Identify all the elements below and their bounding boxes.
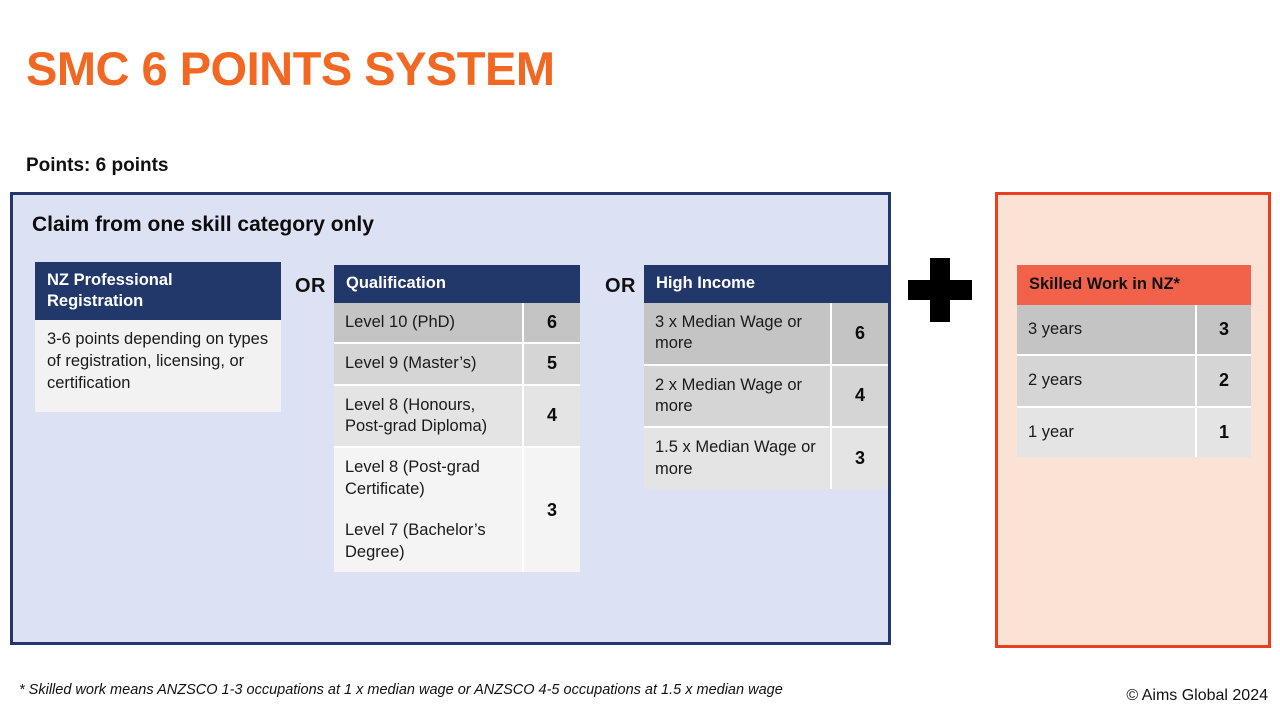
copyright-text: © Aims Global 2024 — [1126, 687, 1268, 705]
table-row: 3 years 3 — [1017, 305, 1251, 356]
points-subtitle: Points: 6 points — [26, 155, 169, 177]
skilled-work-points: 1 — [1197, 408, 1251, 457]
qualification-label: Level 9 (Master’s) — [334, 344, 524, 385]
skill-category-panel: Claim from one skill category only NZ Pr… — [10, 192, 891, 645]
high-income-points: 4 — [832, 366, 888, 429]
card-qualification: Qualification Level 10 (PhD) 6 Level 9 (… — [334, 265, 580, 572]
qualification-label-part-a: Level 8 (Post-grad Certificate) — [345, 457, 512, 500]
qualification-card-header: Qualification — [334, 265, 580, 303]
high-income-points: 3 — [832, 428, 888, 489]
or-separator-1: OR — [295, 275, 326, 298]
table-row: Level 10 (PhD) 6 — [334, 303, 580, 344]
skilled-work-table: 3 years 3 2 years 2 1 year 1 — [1017, 305, 1251, 457]
qualification-label-part-b: Level 7 (Bachelor’s Degree) — [345, 520, 512, 563]
table-row: 3 x Median Wage or more 6 — [644, 303, 888, 366]
registration-card-header: NZ Professional Registration — [35, 262, 281, 320]
high-income-table: 3 x Median Wage or more 6 2 x Median Wag… — [644, 303, 888, 490]
qualification-points: 6 — [524, 303, 580, 344]
plus-icon-vertical-bar — [930, 258, 950, 322]
qualification-points: 5 — [524, 344, 580, 385]
qualification-label: Level 8 (Honours, Post-grad Diploma) — [334, 386, 524, 449]
table-row: 1 year 1 — [1017, 408, 1251, 457]
skilled-work-panel: Skilled Work in NZ* 3 years 3 2 years 2 … — [995, 192, 1271, 648]
qualification-label-combined: Level 8 (Post-grad Certificate) Level 7 … — [334, 448, 524, 572]
page-title: SMC 6 POINTS SYSTEM — [26, 44, 554, 93]
high-income-points: 6 — [832, 303, 888, 366]
card-nz-professional-registration: NZ Professional Registration 3-6 points … — [35, 262, 281, 412]
or-separator-2: OR — [605, 275, 636, 298]
high-income-label: 1.5 x Median Wage or more — [644, 428, 832, 489]
registration-card-body: 3-6 points depending on types of registr… — [35, 320, 281, 412]
skilled-work-label: 2 years — [1017, 356, 1197, 407]
high-income-label: 2 x Median Wage or more — [644, 366, 832, 429]
table-row: Level 8 (Honours, Post-grad Diploma) 4 — [334, 386, 580, 449]
table-row: Level 9 (Master’s) 5 — [334, 344, 580, 385]
card-high-income: High Income 3 x Median Wage or more 6 2 … — [644, 265, 888, 489]
qualification-points: 3 — [524, 448, 580, 572]
qualification-table: Level 10 (PhD) 6 Level 9 (Master’s) 5 Le… — [334, 303, 580, 573]
qualification-points: 4 — [524, 386, 580, 449]
high-income-label: 3 x Median Wage or more — [644, 303, 832, 366]
table-row: Level 8 (Post-grad Certificate) Level 7 … — [334, 448, 580, 572]
high-income-card-header: High Income — [644, 265, 888, 303]
skilled-work-label: 3 years — [1017, 305, 1197, 356]
skill-panel-heading: Claim from one skill category only — [32, 213, 374, 237]
skilled-work-card-header: Skilled Work in NZ* — [1017, 265, 1251, 305]
card-skilled-work: Skilled Work in NZ* 3 years 3 2 years 2 … — [1017, 265, 1251, 457]
table-row: 1.5 x Median Wage or more 3 — [644, 428, 888, 489]
footnote-text: * Skilled work means ANZSCO 1-3 occupati… — [19, 682, 783, 698]
table-row: 2 years 2 — [1017, 356, 1251, 407]
skilled-work-points: 3 — [1197, 305, 1251, 356]
table-row: 2 x Median Wage or more 4 — [644, 366, 888, 429]
skilled-work-label: 1 year — [1017, 408, 1197, 457]
qualification-label: Level 10 (PhD) — [334, 303, 524, 344]
plus-icon — [908, 258, 972, 322]
skilled-work-points: 2 — [1197, 356, 1251, 407]
